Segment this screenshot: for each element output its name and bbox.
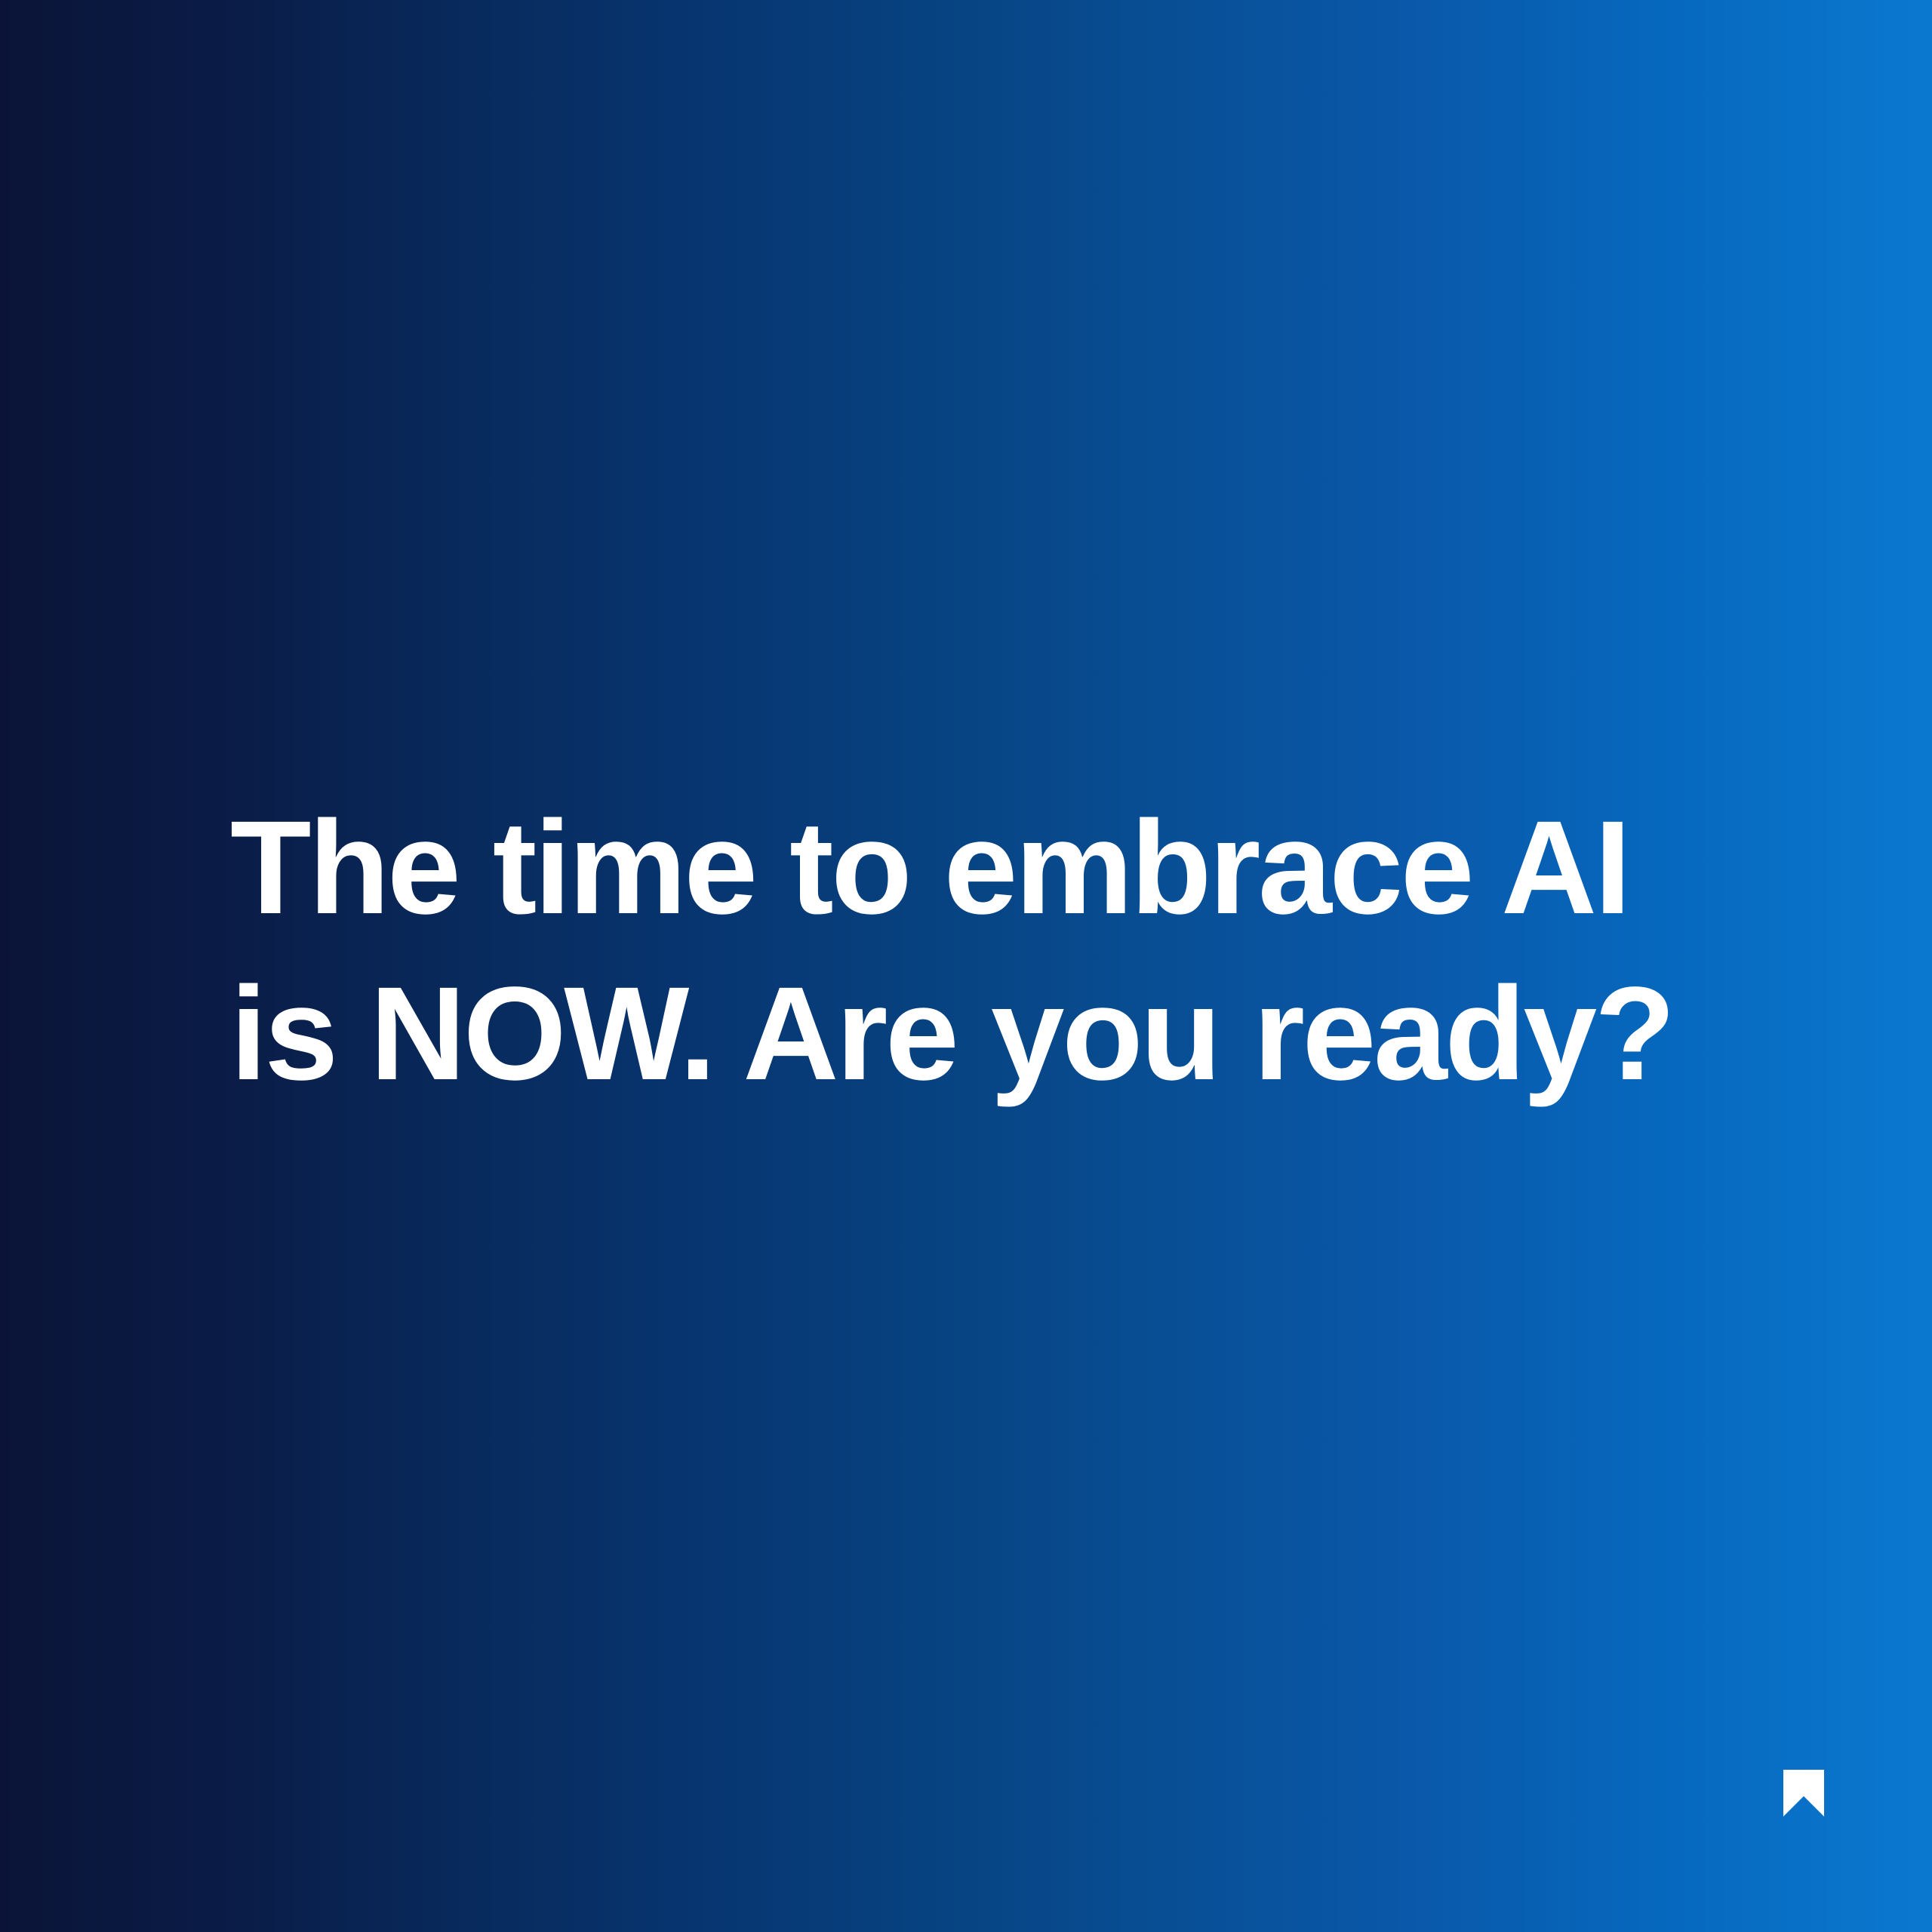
bookmark-icon [1783, 1770, 1824, 1817]
headline-line-2: is NOW. Are you ready? [230, 951, 1740, 1117]
headline-line-1: The time to embrace AI [230, 785, 1740, 951]
headline-block: The time to embrace AI is NOW. Are you r… [230, 785, 1740, 1117]
social-card-canvas: The time to embrace AI is NOW. Are you r… [0, 0, 1932, 1932]
